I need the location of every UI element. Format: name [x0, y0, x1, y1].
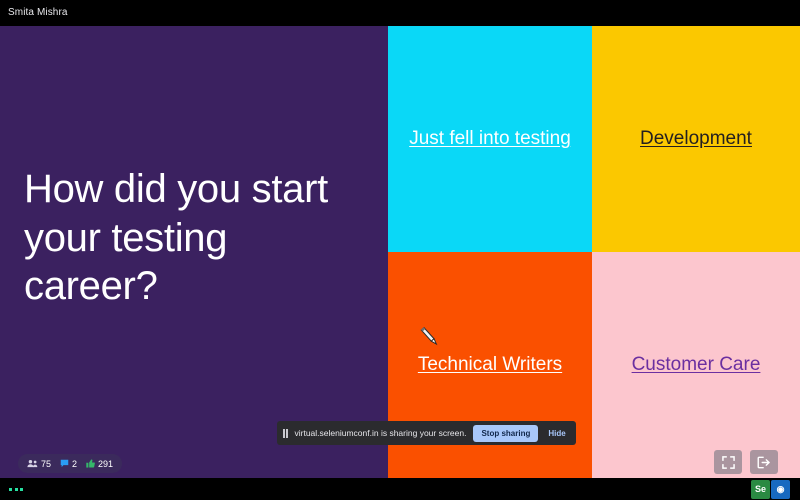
leave-button[interactable]	[750, 450, 778, 474]
stat-viewers[interactable]: 75	[27, 459, 51, 469]
presenter-name-bar: Smita Mishra	[0, 0, 800, 26]
slide-question: How did you start your testing career?	[0, 165, 388, 339]
hide-notification-button[interactable]: Hide	[545, 427, 568, 440]
kebab-menu-icon[interactable]	[9, 488, 23, 491]
screen-share-window: Smita Mishra How did you start your test…	[0, 0, 800, 500]
shared-slide: How did you start your testing career? J…	[0, 26, 800, 478]
share-message: virtual.seleniumconf.in is sharing your …	[295, 428, 467, 438]
pause-icon	[283, 429, 288, 438]
presenter-name: Smita Mishra	[8, 7, 68, 18]
option-label: Just fell into testing	[409, 127, 571, 151]
option-customer-care[interactable]: Customer Care	[592, 252, 800, 478]
option-label: Customer Care	[632, 353, 761, 377]
stat-value: 291	[98, 459, 113, 469]
selenium-icon[interactable]: Se	[751, 480, 770, 499]
screen-share-notification: virtual.seleniumconf.in is sharing your …	[277, 421, 576, 445]
stat-likes[interactable]: 291	[86, 459, 113, 469]
fullscreen-button[interactable]	[714, 450, 742, 474]
viewers-icon	[27, 459, 38, 468]
app-icon[interactable]: ◉	[771, 480, 790, 499]
fullscreen-icon	[722, 456, 735, 469]
taskbar-tray: Se ◉	[751, 480, 800, 499]
stop-sharing-button[interactable]: Stop sharing	[473, 425, 538, 442]
option-label: Development	[640, 127, 752, 151]
comments-icon	[60, 459, 69, 468]
option-label: Technical Writers	[418, 353, 562, 377]
option-development[interactable]: Development	[592, 26, 800, 252]
question-panel: How did you start your testing career?	[0, 26, 388, 478]
thumbs-up-icon	[86, 459, 95, 468]
option-just-fell-into-testing[interactable]: Just fell into testing	[388, 26, 592, 252]
stat-value: 2	[72, 459, 77, 469]
stat-value: 75	[41, 459, 51, 469]
leave-icon	[757, 456, 771, 469]
stat-comments[interactable]: 2	[60, 459, 77, 469]
stats-pill: 75 2 291	[18, 454, 122, 473]
taskbar: Se ◉	[0, 478, 800, 500]
